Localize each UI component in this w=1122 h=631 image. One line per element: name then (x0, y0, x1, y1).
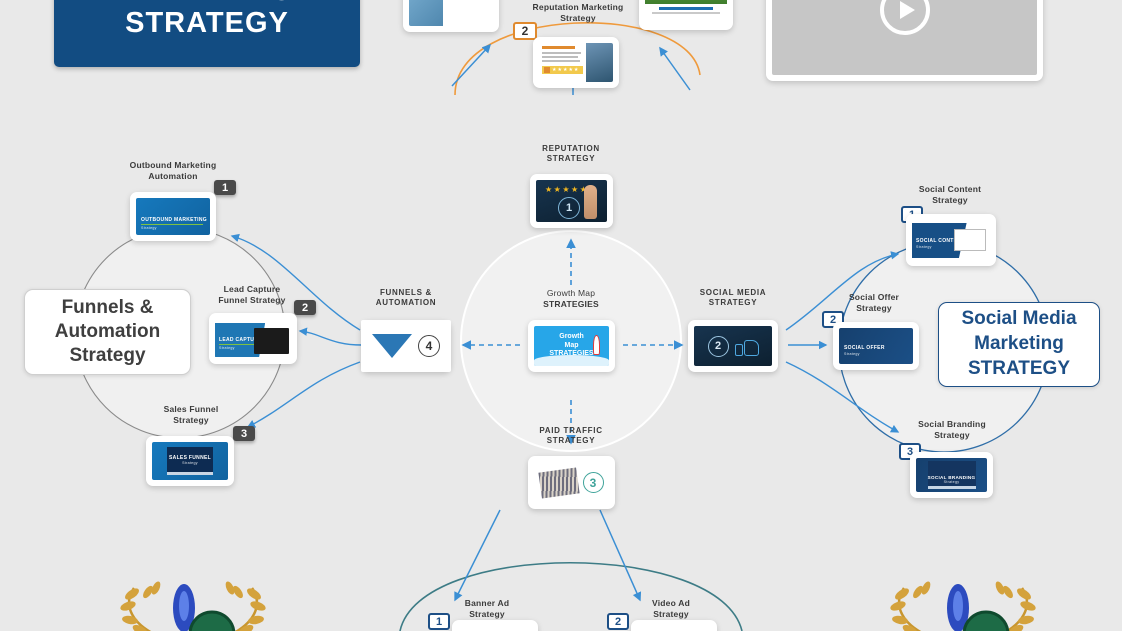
center-paid-number: 3 (583, 472, 604, 493)
video-player-thumb (772, 0, 1037, 75)
top-left-article-thumb (409, 0, 493, 26)
outbound-thumb: OUTBOUND MARKETING Strategy (136, 198, 210, 235)
center-social-number: 2 (708, 336, 729, 357)
sales-funnel-thumb: SALES FUNNEL Strategy (152, 442, 228, 480)
outbound-card[interactable]: OUTBOUND MARKETING Strategy (130, 192, 216, 241)
thumbs-up-icon (735, 336, 759, 356)
lead-capture-card[interactable]: LEAD CAPTURE Strategy (209, 313, 297, 364)
social-branding-thumb: SOCIAL BRANDING Strategy (916, 458, 987, 492)
plate-line-1: MARKETING (121, 0, 294, 7)
center-funnels-title: FUNNELS & AUTOMATION (358, 288, 454, 308)
sales-funnel-card[interactable]: SALES FUNNEL Strategy (146, 436, 234, 486)
social-offer-thumb-sub: Strategy (844, 352, 860, 356)
video-ad-caption-line-1: Video Ad (628, 598, 714, 609)
rating-stars: ★ ★ ★ ★ ★ (545, 186, 587, 194)
social-offer-card[interactable]: SOCIAL OFFER Strategy (833, 322, 919, 370)
social-branding-card[interactable]: SOCIAL BRANDING Strategy (910, 452, 993, 498)
outbound-thumb-sub: Strategy (141, 226, 157, 230)
marketing-strategy-plate: MARKETING STRATEGY (54, 0, 360, 67)
pointing-hand-icon (584, 185, 597, 219)
social-label-line-1: Social Media (961, 307, 1076, 332)
center-growth-card[interactable]: Growth Map STRATEGIES (528, 320, 615, 372)
center-funnels-title-line-2: AUTOMATION (358, 298, 454, 308)
top-right-golf-card[interactable] (639, 0, 733, 30)
video-ad-thumb (637, 626, 711, 631)
center-growth-thumb: Growth Map STRATEGIES (534, 326, 609, 366)
crowd-icon (538, 467, 579, 498)
growth-thumb-line-2: Map (549, 342, 593, 350)
outbound-caption-line-1: Outbound Marketing (113, 160, 233, 171)
lead-capture-caption-line-1: Lead Capture (197, 284, 307, 295)
funnels-label-line-3: Strategy (69, 344, 145, 368)
banner-ad-caption-line-2: Strategy (440, 609, 534, 620)
reputation-marketing-card[interactable]: ★★★★★ (533, 37, 619, 88)
sales-funnel-badge: 3 (233, 426, 255, 441)
banner-ad-badge: 1 (428, 613, 450, 630)
left-laurel-wreath-badge (108, 578, 278, 631)
right-laurel-wreath-badge (878, 578, 1048, 631)
sales-funnel-caption-line-1: Sales Funnel (136, 404, 246, 415)
center-growth-title-line-2: STRATEGIES (521, 299, 621, 310)
video-ad-caption-line-2: Strategy (628, 609, 714, 620)
star-icon: ★ (545, 186, 552, 194)
lead-capture-badge: 2 (294, 300, 316, 315)
center-paid-title-line-1: PAID TRAFFIC (518, 426, 624, 436)
reputation-marketing-badge: 2 (513, 22, 537, 40)
center-growth-title: Growth Map STRATEGIES (521, 288, 621, 309)
social-content-screen (954, 229, 986, 251)
center-growth-title-line-1: Growth Map (521, 288, 621, 299)
social-content-caption-line-1: Social Content (895, 184, 1005, 195)
lead-capture-thumb-sub: Strategy (219, 346, 235, 350)
star-icon: ★ (571, 186, 578, 194)
social-offer-caption-line-1: Social Offer (821, 292, 927, 303)
rocket-icon (593, 335, 600, 355)
outbound-thumb-title: OUTBOUND MARKETING (141, 217, 207, 223)
social-branding-caption-line-1: Social Branding (897, 419, 1007, 430)
center-social-title: SOCIAL MEDIA STRATEGY (683, 288, 783, 308)
center-funnels-card[interactable]: 4 (361, 320, 451, 372)
star-icon: ★ (562, 186, 569, 194)
center-paid-title: PAID TRAFFIC STRATEGY (518, 426, 624, 446)
plate-line-2: STRATEGY (125, 7, 289, 40)
center-social-thumb: 2 (694, 326, 772, 366)
center-social-card[interactable]: 2 (688, 320, 778, 372)
sales-funnel-caption: Sales Funnel Strategy (136, 404, 246, 425)
center-reputation-thumb: ★ ★ ★ ★ ★ 1 (536, 180, 607, 222)
funnels-label-line-1: Funnels & (62, 296, 154, 320)
outbound-caption: Outbound Marketing Automation (113, 160, 233, 181)
reputation-marketing-caption-line-1: Reputation Marketing (508, 2, 648, 13)
social-branding-thumb-sub: Strategy (944, 480, 960, 484)
video-ad-badge: 2 (607, 613, 629, 630)
social-offer-thumb: SOCIAL OFFER Strategy (839, 328, 913, 364)
infographic-canvas: MARKETING STRATEGY (0, 0, 1122, 631)
center-social-title-line-2: STRATEGY (683, 298, 783, 308)
video-ad-card[interactable] (631, 620, 717, 631)
video-player-card[interactable] (766, 0, 1043, 81)
growth-thumb-line-1: Growth (549, 333, 593, 341)
center-funnels-thumb: 4 (361, 320, 451, 372)
funnels-automation-label: Funnels & Automation Strategy (24, 289, 191, 375)
social-branding-caption-line-2: Strategy (897, 430, 1007, 441)
lead-capture-caption: Lead Capture Funnel Strategy (197, 284, 307, 305)
center-paid-thumb: 3 (534, 462, 609, 503)
lead-capture-thumb: LEAD CAPTURE Strategy (215, 319, 291, 358)
center-reputation-number: 1 (558, 197, 580, 219)
social-media-marketing-label: Social Media Marketing STRATEGY (938, 302, 1100, 387)
funnels-label-line-2: Automation (55, 320, 161, 344)
center-paid-card[interactable]: 3 (528, 456, 615, 509)
social-content-caption-line-2: Strategy (895, 195, 1005, 206)
reputation-marketing-caption: Reputation Marketing Strategy (508, 2, 648, 23)
social-content-caption: Social Content Strategy (895, 184, 1005, 205)
social-label-line-2: Marketing (974, 332, 1064, 357)
lead-capture-screen (254, 328, 289, 354)
banner-ad-caption-line-1: Banner Ad (440, 598, 534, 609)
banner-ad-caption: Banner Ad Strategy (440, 598, 534, 619)
banner-ad-thumb (458, 626, 532, 631)
center-reputation-card[interactable]: ★ ★ ★ ★ ★ 1 (530, 174, 613, 228)
social-offer-thumb-title: SOCIAL OFFER (844, 345, 885, 351)
center-reputation-title-line-2: STRATEGY (511, 154, 631, 164)
star-icon: ★ (554, 186, 561, 194)
top-left-article-card[interactable] (403, 0, 499, 32)
outbound-badge: 1 (214, 180, 236, 195)
lead-capture-caption-line-2: Funnel Strategy (197, 295, 307, 306)
sales-funnel-caption-line-2: Strategy (136, 415, 246, 426)
social-label-line-3: STRATEGY (968, 357, 1070, 382)
center-social-title-line-1: SOCIAL MEDIA (683, 288, 783, 298)
banner-ad-card[interactable] (452, 620, 538, 631)
sales-funnel-thumb-sub: Strategy (182, 461, 198, 465)
social-content-thumb: SOCIAL CONTENT Strategy (912, 220, 990, 260)
top-right-golf-thumb (645, 0, 727, 24)
play-icon[interactable] (880, 0, 930, 35)
social-branding-caption: Social Branding Strategy (897, 419, 1007, 440)
center-funnels-title-line-1: FUNNELS & (358, 288, 454, 298)
center-paid-title-line-2: STRATEGY (518, 436, 624, 446)
social-content-card[interactable]: SOCIAL CONTENT Strategy (906, 214, 996, 266)
video-ad-caption: Video Ad Strategy (628, 598, 714, 619)
center-reputation-title-line-1: REPUTATION (511, 144, 631, 154)
reputation-marketing-thumb: ★★★★★ (539, 43, 613, 82)
center-reputation-title: REPUTATION STRATEGY (511, 144, 631, 164)
center-funnels-number: 4 (418, 335, 440, 357)
funnel-icon (372, 334, 412, 358)
social-content-thumb-sub: Strategy (916, 245, 932, 249)
